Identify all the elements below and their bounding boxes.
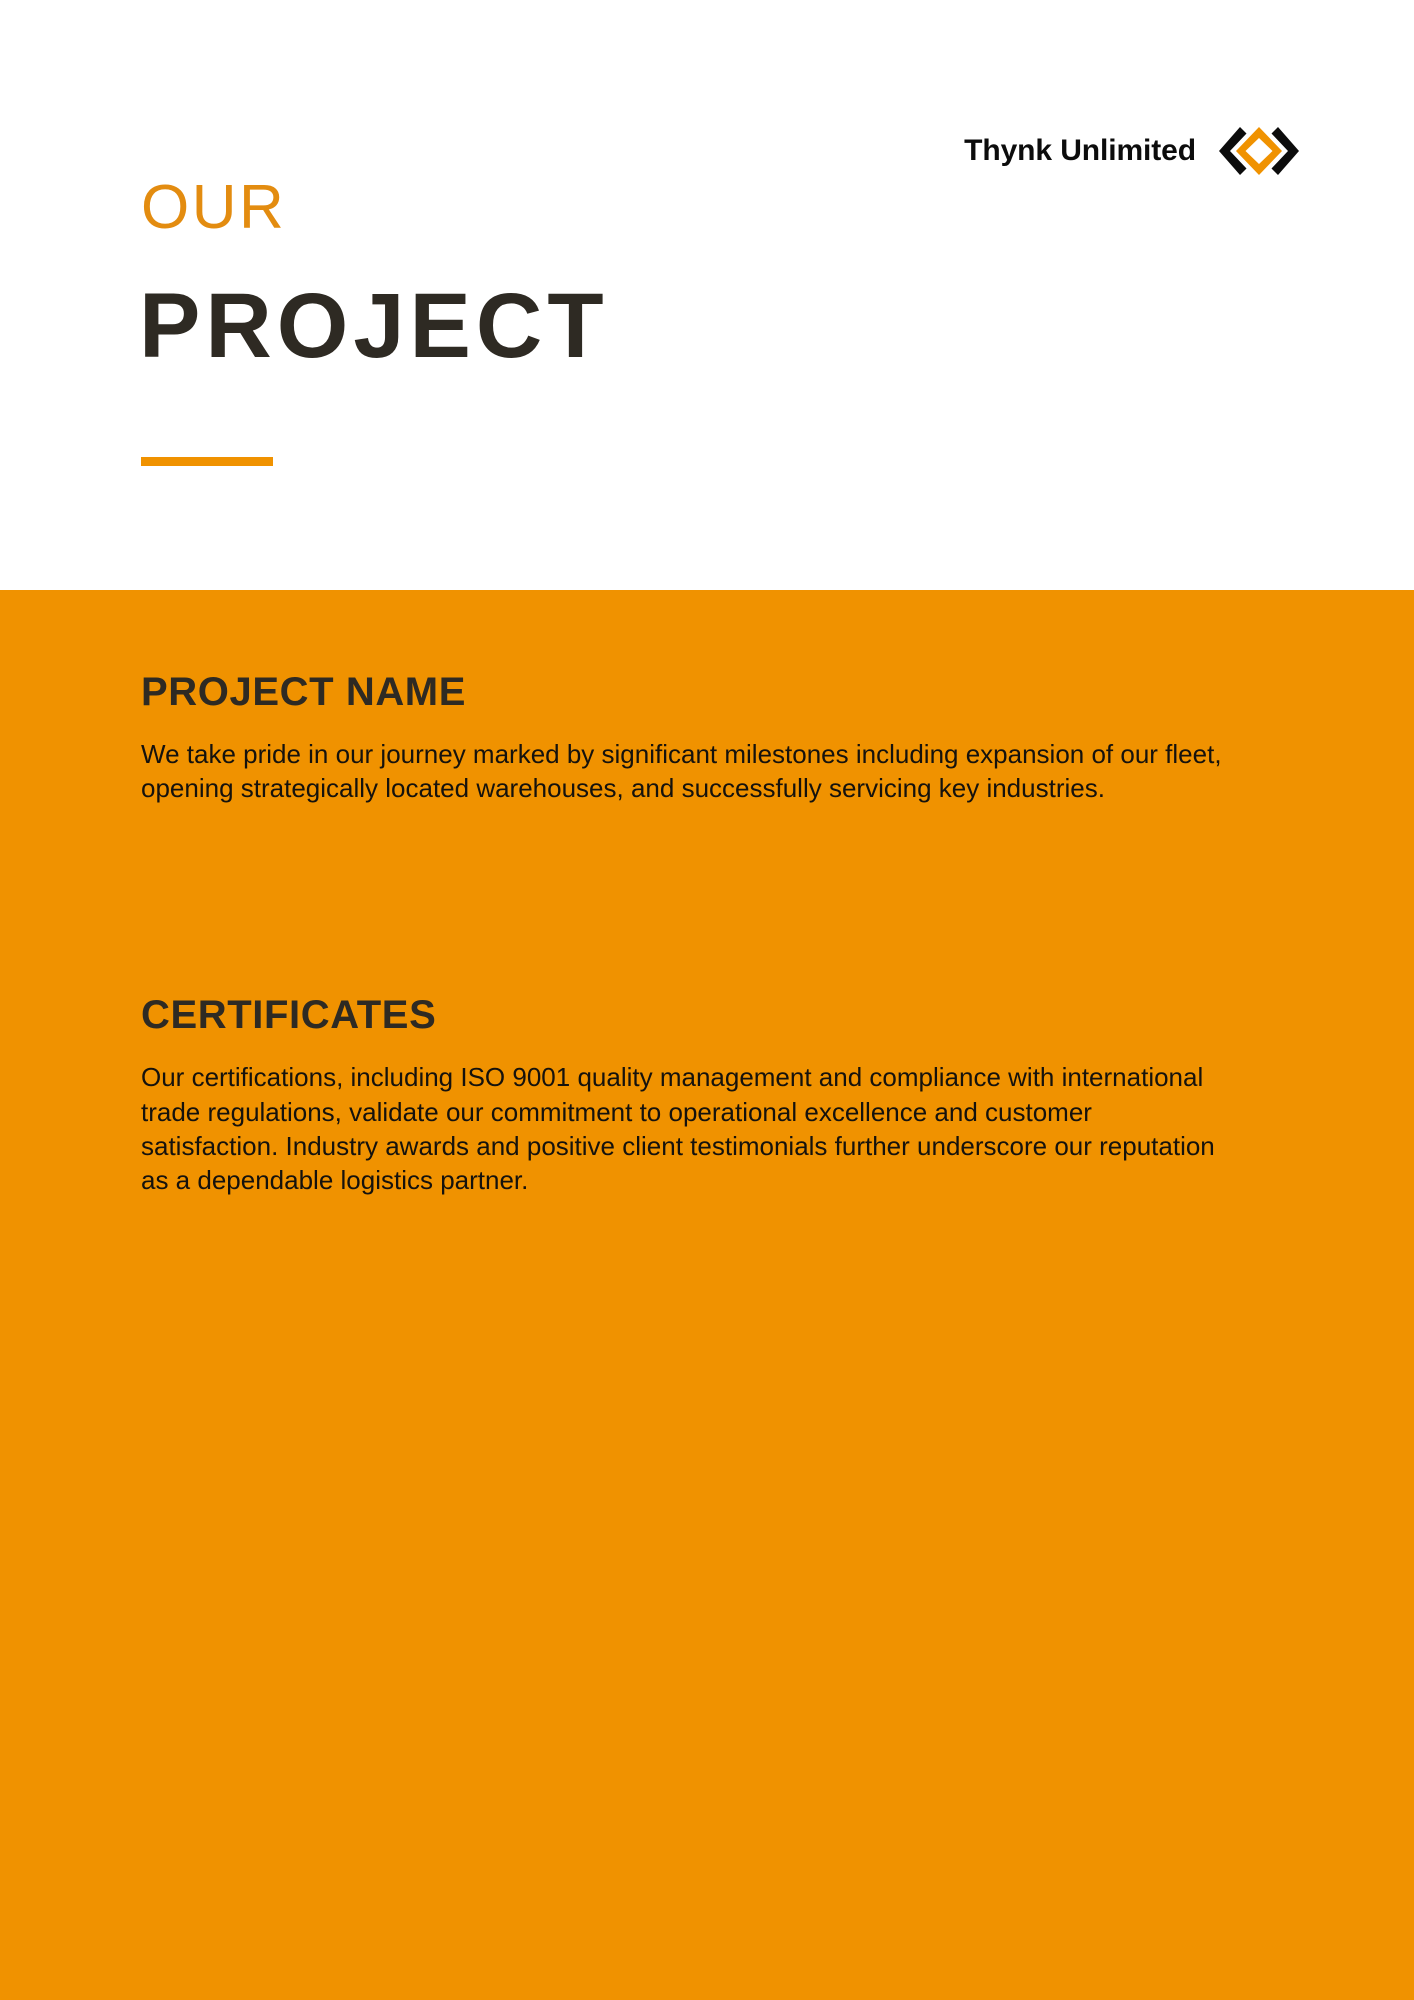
content-container: PROJECT NAME We take pride in our journe… <box>141 670 1246 1197</box>
section-certificates: CERTIFICATES Our certifications, includi… <box>141 993 1246 1197</box>
page-title: PROJECT <box>139 280 609 372</box>
brand-lockup: Thynk Unlimited <box>964 127 1300 175</box>
section-heading: CERTIFICATES <box>141 993 1246 1038</box>
brand-name: Thynk Unlimited <box>964 136 1196 166</box>
section-project-name: PROJECT NAME We take pride in our journe… <box>141 670 1246 805</box>
poster-page: Thynk Unlimited OUR PROJECT PROJECT NAME <box>0 0 1414 2000</box>
accent-underline-rule <box>141 457 273 466</box>
content-panel: PROJECT NAME We take pride in our journe… <box>0 590 1414 2000</box>
diamond-chevron-logo-icon <box>1218 125 1300 177</box>
hero-section: Thynk Unlimited OUR PROJECT <box>0 0 1414 590</box>
section-heading: PROJECT NAME <box>141 670 1246 715</box>
section-paragraph: Our certifications, including ISO 9001 q… <box>141 1060 1231 1197</box>
hero-eyebrow: OUR <box>141 177 286 239</box>
section-paragraph: We take pride in our journey marked by s… <box>141 737 1246 806</box>
